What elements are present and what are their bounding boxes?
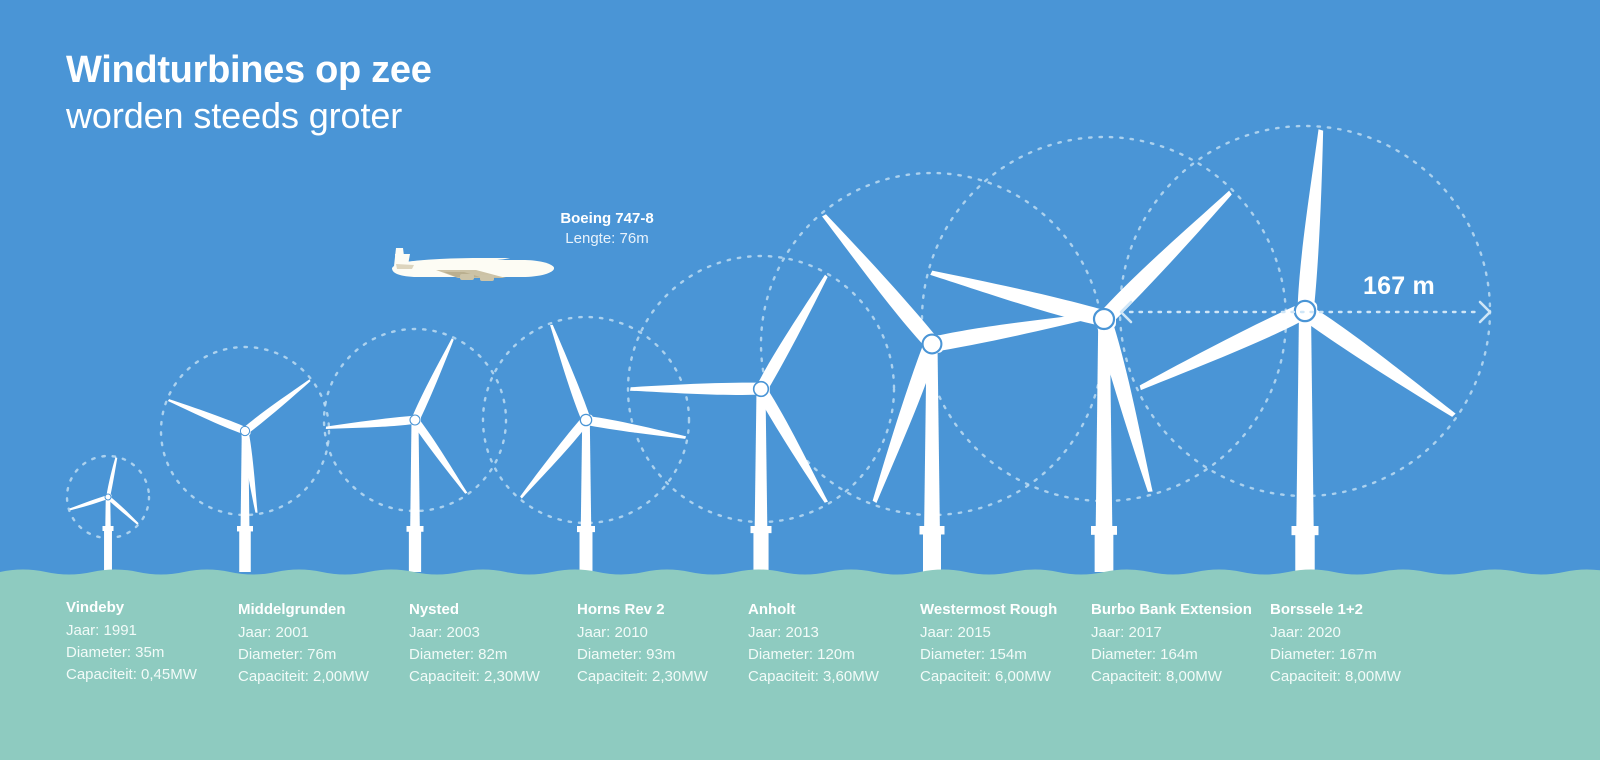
turbine-blade <box>167 396 248 435</box>
turbine-hub <box>105 494 111 500</box>
legend-turbine-diameter: Diameter: 35m <box>66 642 197 664</box>
legend-turbine-year: Jaar: 2010 <box>577 622 708 644</box>
legend-turbine-name: Westermost Rough <box>920 599 1057 622</box>
chevron-right-icon <box>1480 302 1490 322</box>
legend-turbine-name: Middelgrunden <box>238 599 369 622</box>
legend-turbine-capacity: Capaciteit: 0,45MW <box>66 664 197 686</box>
infographic-canvas: Windturbines op zee worden steeds groter… <box>0 0 1600 760</box>
turbine-blade <box>547 323 591 423</box>
turbine-blade <box>411 337 457 423</box>
turbine-legend: VindebyJaar: 1991Diameter: 35mCapaciteit… <box>0 575 1600 760</box>
turbine-blade <box>410 416 469 496</box>
legend-turbine-capacity: Capaciteit: 2,30MW <box>409 666 540 688</box>
turbine-blade <box>517 415 591 500</box>
legend-item-westermost-rough[interactable]: Westermost RoughJaar: 2015Diameter: 154m… <box>920 599 1057 688</box>
turbine-blade <box>1136 302 1312 396</box>
turbine-1 <box>69 457 139 580</box>
legend-item-vindeby[interactable]: VindebyJaar: 1991Diameter: 35mCapaciteit… <box>66 597 197 686</box>
legend-turbine-name: Nysted <box>409 599 540 622</box>
legend-turbine-year: Jaar: 2020 <box>1270 622 1401 644</box>
legend-turbine-year: Jaar: 1991 <box>66 620 197 642</box>
legend-turbine-name: Borssele 1+2 <box>1270 599 1401 622</box>
legend-turbine-capacity: Capaciteit: 2,30MW <box>577 666 708 688</box>
legend-turbine-diameter: Diameter: 93m <box>577 644 708 666</box>
legend-turbine-capacity: Capaciteit: 8,00MW <box>1270 666 1401 688</box>
legend-turbine-capacity: Capaciteit: 8,00MW <box>1091 666 1252 688</box>
legend-turbine-name: Burbo Bank Extension <box>1091 599 1252 622</box>
turbine-monopile <box>239 526 251 580</box>
legend-turbine-capacity: Capaciteit: 2,00MW <box>238 666 369 688</box>
legend-turbine-capacity: Capaciteit: 3,60MW <box>748 666 879 688</box>
turbine-blade <box>241 377 312 435</box>
turbine-blade <box>325 416 417 432</box>
legend-turbine-diameter: Diameter: 120m <box>748 644 879 666</box>
turbine-8 <box>1136 129 1459 580</box>
legend-item-middelgrunden[interactable]: MiddelgrundenJaar: 2001Diameter: 76mCapa… <box>238 599 369 688</box>
turbine-3 <box>325 337 469 580</box>
legend-turbine-name: Anholt <box>748 599 879 622</box>
turbine-hub <box>240 426 249 435</box>
turbine-hub <box>580 414 591 425</box>
turbine-6 <box>818 210 1099 580</box>
legend-turbine-capacity: Capaciteit: 6,00MW <box>920 666 1057 688</box>
legend-turbine-year: Jaar: 2017 <box>1091 622 1252 644</box>
airplane-icon <box>392 248 554 281</box>
turbine-5 <box>630 273 832 580</box>
legend-turbine-diameter: Diameter: 154m <box>920 644 1057 666</box>
turbine-2 <box>167 377 313 580</box>
turbine-blade <box>583 415 686 442</box>
legend-turbine-diameter: Diameter: 167m <box>1270 644 1401 666</box>
legend-turbine-year: Jaar: 2015 <box>920 622 1057 644</box>
legend-turbine-year: Jaar: 2001 <box>238 622 369 644</box>
turbine-blade <box>1096 186 1237 327</box>
legend-turbine-name: Vindeby <box>66 597 197 620</box>
turbine-blade <box>1297 302 1459 423</box>
legend-turbine-year: Jaar: 2003 <box>409 622 540 644</box>
legend-turbine-diameter: Diameter: 76m <box>238 644 369 666</box>
turbine-7 <box>929 186 1237 580</box>
turbine-blade <box>69 495 109 512</box>
turbine-hub <box>754 382 769 397</box>
turbine-blade <box>929 264 1110 328</box>
turbine-blade <box>106 457 119 498</box>
legend-item-borssele-1-2[interactable]: Borssele 1+2Jaar: 2020Diameter: 167mCapa… <box>1270 599 1401 688</box>
turbine-blade <box>1296 129 1329 315</box>
turbine-hub <box>923 335 942 354</box>
legend-turbine-diameter: Diameter: 164m <box>1091 644 1252 666</box>
turbine-hub <box>410 415 420 425</box>
legend-item-nysted[interactable]: NystedJaar: 2003Diameter: 82mCapaciteit:… <box>409 599 540 688</box>
turbine-blade <box>755 273 832 395</box>
turbine-4 <box>517 323 687 580</box>
turbine-hub <box>1094 309 1114 329</box>
legend-turbine-year: Jaar: 2013 <box>748 622 879 644</box>
legend-turbine-diameter: Diameter: 82m <box>409 644 540 666</box>
legend-item-burbo-bank-extension[interactable]: Burbo Bank ExtensionJaar: 2017Diameter: … <box>1091 599 1252 688</box>
legend-item-anholt[interactable]: AnholtJaar: 2013Diameter: 120mCapaciteit… <box>748 599 879 688</box>
turbine-blade <box>106 495 139 526</box>
legend-turbine-name: Horns Rev 2 <box>577 599 708 622</box>
legend-item-horns-rev-2[interactable]: Horns Rev 2Jaar: 2010Diameter: 93mCapaci… <box>577 599 708 688</box>
turbine-blade <box>630 383 763 395</box>
